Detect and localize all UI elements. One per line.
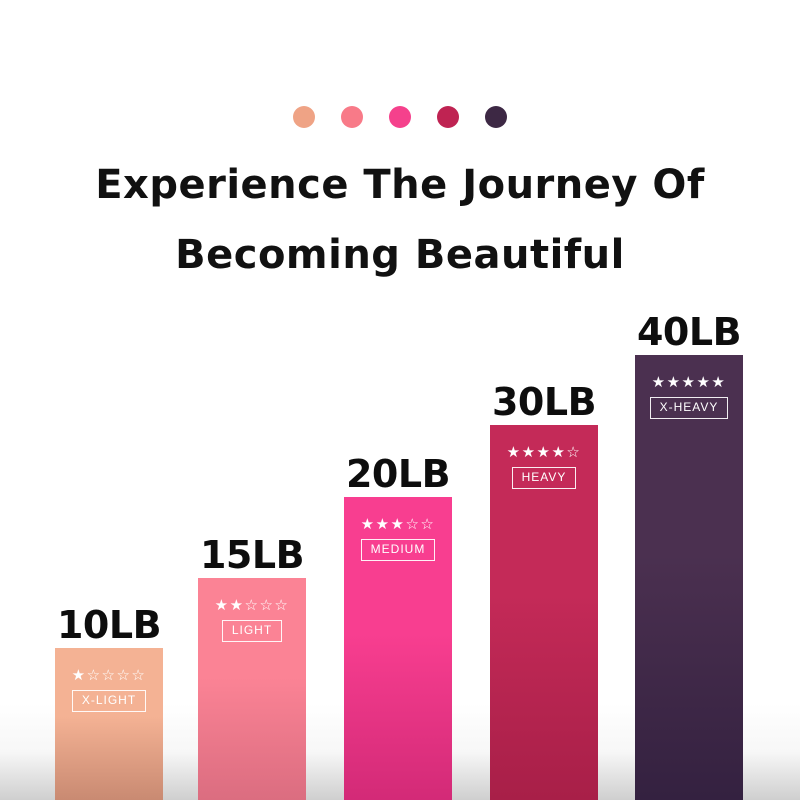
resistance-band-bar-chart: ★☆☆☆☆X-LIGHT10LB★★☆☆☆LIGHT15LB★★★☆☆MEDIU…: [0, 0, 800, 800]
bar-value-label: 20LB: [346, 452, 450, 496]
bar-badge: ★★★☆☆MEDIUM: [344, 517, 452, 561]
tier-label: HEAVY: [512, 467, 577, 489]
tier-label: X-LIGHT: [72, 690, 146, 712]
bar-value-label: 10LB: [57, 603, 161, 647]
tier-label: MEDIUM: [361, 539, 436, 561]
bar-badge: ★☆☆☆☆X-LIGHT: [55, 668, 163, 712]
bar-badge: ★★★★★X-HEAVY: [635, 375, 743, 419]
bar-group: ★★★★★X-HEAVY40LB: [635, 355, 743, 800]
bar-40lb[interactable]: [635, 355, 743, 800]
star-rating-icon: ★☆☆☆☆: [55, 668, 163, 683]
bar-value-label: 15LB: [200, 533, 304, 577]
bar-badge: ★★☆☆☆LIGHT: [198, 598, 306, 642]
bar-group: ★★★★☆HEAVY30LB: [490, 425, 598, 800]
bar-group: ★★☆☆☆LIGHT15LB: [198, 578, 306, 800]
bar-value-label: 30LB: [492, 380, 596, 424]
star-rating-icon: ★★★☆☆: [344, 517, 452, 532]
star-rating-icon: ★★★★☆: [490, 445, 598, 460]
poster-canvas: Experience The Journey Of Becoming Beaut…: [0, 0, 800, 800]
bar-value-label: 40LB: [637, 310, 741, 354]
tier-label: X-HEAVY: [650, 397, 729, 419]
tier-label: LIGHT: [222, 620, 282, 642]
star-rating-icon: ★★☆☆☆: [198, 598, 306, 613]
bar-group: ★★★☆☆MEDIUM20LB: [344, 497, 452, 800]
bar-group: ★☆☆☆☆X-LIGHT10LB: [55, 648, 163, 800]
bar-badge: ★★★★☆HEAVY: [490, 445, 598, 489]
star-rating-icon: ★★★★★: [635, 375, 743, 390]
